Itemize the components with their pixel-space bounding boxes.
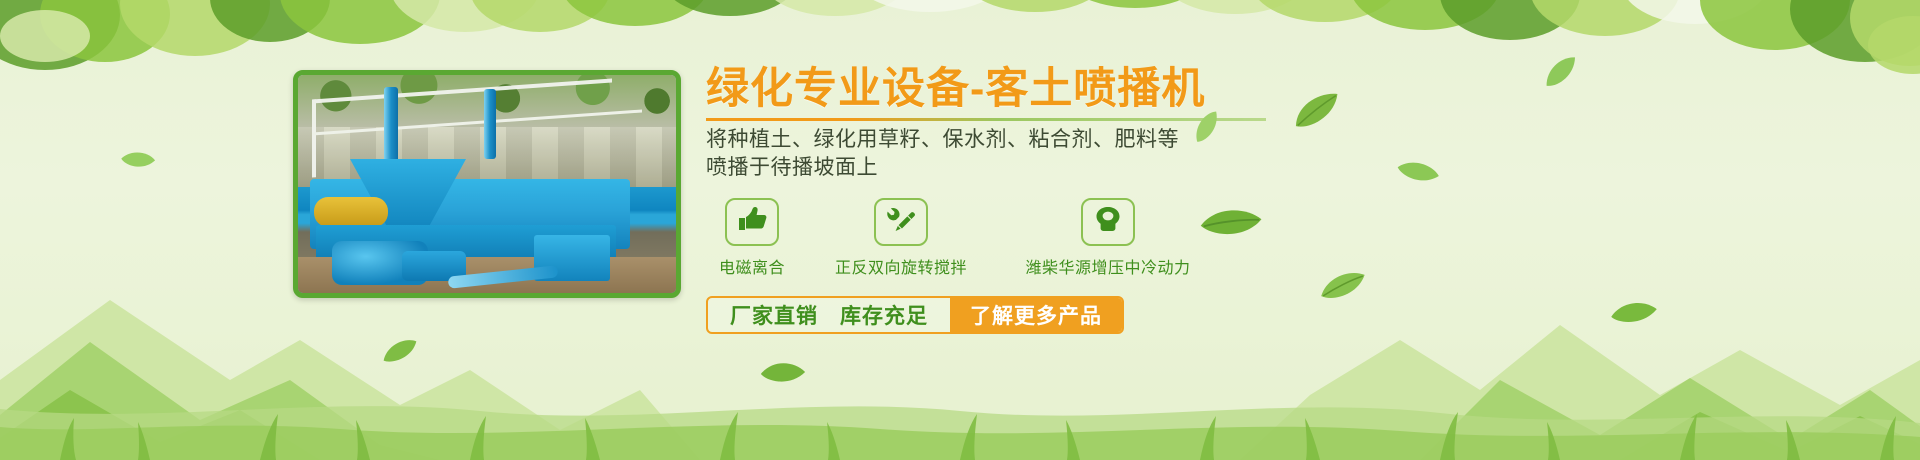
learn-more-button[interactable]: 了解更多产品 [950, 298, 1122, 332]
cta-slogan: 厂家直销 库存充足 [708, 298, 950, 332]
decorative-leaf-icon [378, 336, 422, 366]
cta-slogan-in-stock: 库存充足 [840, 300, 928, 330]
feature-label: 潍柴华源增压中冷动力 [1004, 254, 1212, 278]
banner-title: 绿化专业设备-客土喷播机 [706, 66, 1406, 112]
engine-cloud-icon [1092, 206, 1124, 237]
feature-icon-box [1081, 198, 1135, 246]
decorative-leaf-icon [1608, 297, 1659, 329]
feature-label: 正反双向旋转搅拌 [812, 254, 990, 278]
decorative-leaf-icon [118, 144, 159, 176]
decorative-leaf-icon [1537, 52, 1585, 92]
feature-icon-box [874, 198, 928, 246]
cta-bar: 厂家直销 库存充足 了解更多产品 [706, 296, 1124, 334]
feature-label: 电磁离合 [706, 254, 798, 278]
decorative-leaf-icon [757, 354, 808, 392]
product-photo[interactable] [293, 70, 681, 298]
feature-item-electromagnetic-clutch[interactable]: 电磁离合 [706, 198, 798, 278]
grass-decoration [0, 365, 1920, 460]
feature-item-weichai-power[interactable]: 潍柴华源增压中冷动力 [1004, 198, 1212, 278]
banner-subtitle-line-1: 将种植土、绿化用草籽、保水剂、粘合剂、肥料等 [706, 126, 1406, 154]
promo-banner: 绿化专业设备-客土喷播机 将种植土、绿化用草籽、保水剂、粘合剂、肥料等 喷播于待… [0, 0, 1920, 460]
feature-list: 电磁离合 正反双向旋转搅拌 [706, 198, 1406, 278]
feature-icon-box [725, 198, 779, 246]
thumbs-up-icon [737, 205, 767, 238]
banner-content: 绿化专业设备-客土喷播机 将种植土、绿化用草籽、保水剂、粘合剂、肥料等 喷播于待… [706, 66, 1406, 334]
wrench-screwdriver-icon [886, 205, 916, 238]
title-underline [706, 118, 1266, 121]
product-photo-image [298, 75, 676, 293]
banner-subtitle-line-2: 喷播于待播坡面上 [706, 154, 1406, 182]
cta-slogan-direct-sale: 厂家直销 [730, 300, 818, 330]
feature-item-bidirectional-stirring[interactable]: 正反双向旋转搅拌 [812, 198, 990, 278]
